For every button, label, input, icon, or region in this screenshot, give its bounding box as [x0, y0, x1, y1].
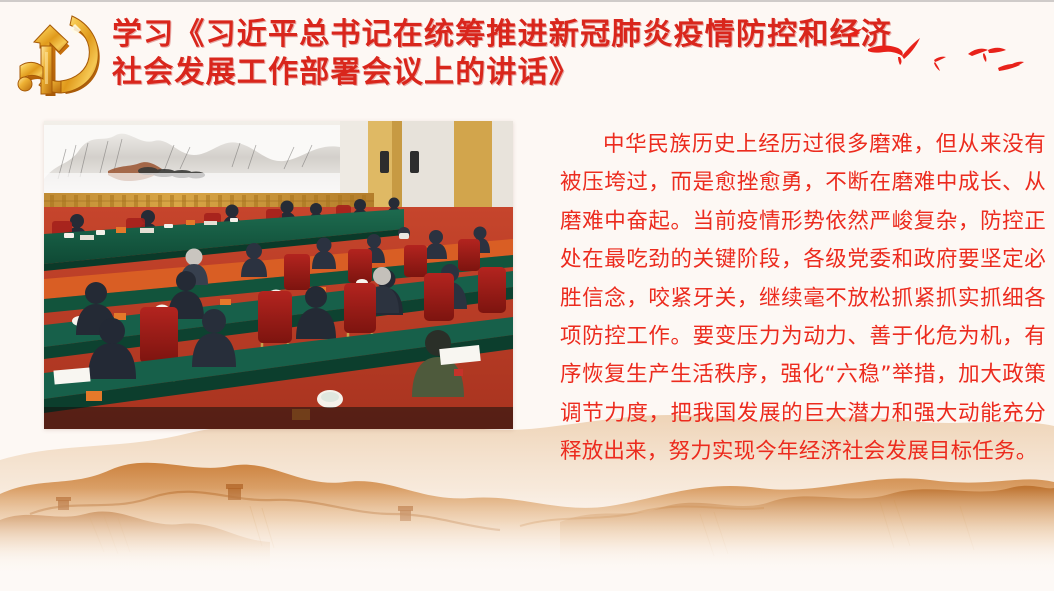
poster-slide: 学习《习近平总书记在统筹推进新冠肺炎疫情防控和经济 社会发展工作部署会议上的讲话… — [0, 0, 1054, 591]
bottom-fade — [0, 545, 1054, 591]
page-title: 学习《习近平总书记在统筹推进新冠肺炎疫情防控和经济 社会发展工作部署会议上的讲话… — [112, 16, 872, 92]
conference-photo — [44, 121, 513, 429]
flying-birds-decoration — [846, 22, 1046, 90]
title-line-1: 学习《习近平总书记在统筹推进新冠肺炎疫情防控和经济 — [112, 16, 872, 54]
speech-excerpt-paragraph: 中华民族历史上经历过很多磨难，但从来没有被压垮过，而是愈挫愈勇，不断在磨难中成长… — [560, 126, 1046, 472]
cpc-hammer-sickle-emblem — [12, 12, 112, 106]
title-line-2: 社会发展工作部署会议上的讲话》 — [112, 54, 872, 92]
conference-photo-image — [44, 121, 513, 429]
poster-header: 学习《习近平总书记在统筹推进新冠肺炎疫情防控和经济 社会发展工作部署会议上的讲话… — [0, 2, 1054, 110]
